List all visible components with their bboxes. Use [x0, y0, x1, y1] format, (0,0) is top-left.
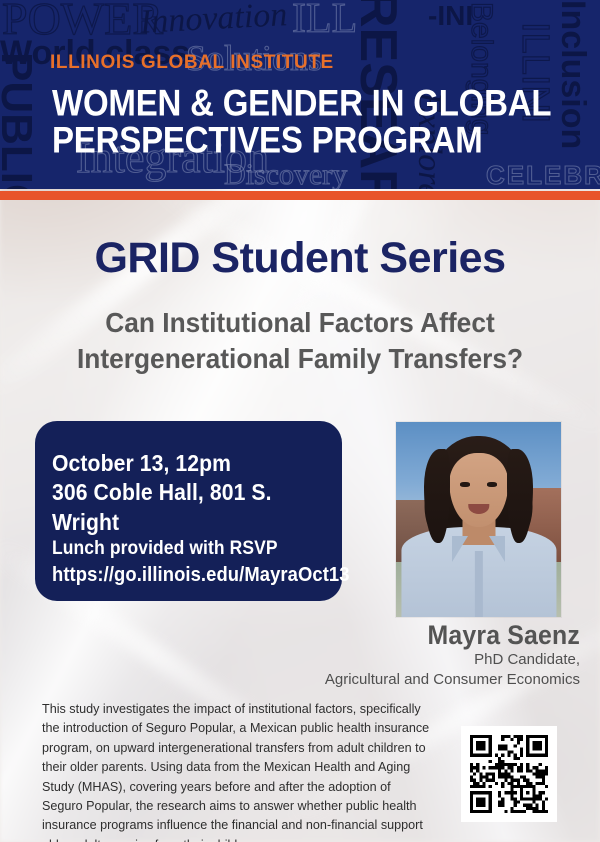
qr-code-panel — [461, 726, 557, 822]
talk-title-line2: Intergenerational Family Transfers? — [44, 341, 555, 377]
photo-eye-right — [487, 482, 497, 487]
series-title: GRID Student Series — [0, 234, 600, 283]
photo-collar-right — [489, 536, 505, 562]
qr-code-icon[interactable] — [470, 735, 548, 813]
talk-title-line1: Can Institutional Factors Affect — [44, 305, 555, 341]
rsvp-link[interactable]: https://go.illinois.edu/MayraOct13 — [52, 562, 310, 588]
talk-title: Can Institutional Factors Affect Interge… — [44, 305, 555, 377]
org-label: ILLINOIS GLOBAL INSTITUTE — [50, 52, 334, 74]
event-date-time: October 13, 12pm — [52, 449, 310, 478]
event-lunch-note: Lunch provided with RSVP — [52, 537, 310, 562]
abstract-text: This study investigates the impact of in… — [42, 700, 430, 842]
event-poster: POWER Innovation ILL -INI RESEARCH Belon… — [0, 0, 600, 842]
header-banner: POWER Innovation ILL -INI RESEARCH Belon… — [0, 0, 600, 189]
event-location: 306 Coble Hall, 801 S. Wright — [52, 478, 310, 537]
event-details-box: October 13, 12pm 306 Coble Hall, 801 S. … — [35, 421, 342, 601]
photo-shirt-placket — [474, 551, 482, 617]
speaker-role-line1: PhD Candidate, — [240, 651, 580, 668]
event-details-text: October 13, 12pm 306 Coble Hall, 801 S. … — [52, 449, 332, 588]
photo-collar-left — [452, 536, 468, 562]
program-title-line2: PERSPECTIVES PROGRAM — [52, 119, 483, 162]
orange-divider — [0, 191, 600, 200]
photo-eye-left — [460, 482, 470, 487]
speaker-role-line2: Agricultural and Consumer Economics — [240, 671, 580, 688]
speaker-photo — [396, 422, 561, 617]
header-text-block: ILLINOIS GLOBAL INSTITUTE WOMEN & GENDER… — [0, 0, 600, 189]
speaker-name: Mayra Saenz — [322, 620, 580, 651]
